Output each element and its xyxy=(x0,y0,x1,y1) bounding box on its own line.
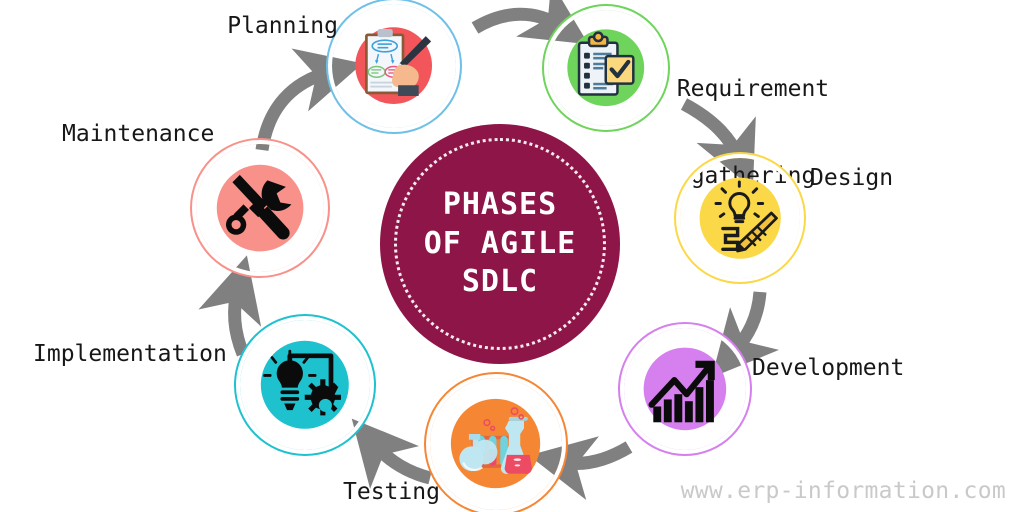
arrow-implementation-to-maintenance xyxy=(235,288,243,354)
arrow-planning-to-requirement xyxy=(475,14,560,28)
phase-label-testing: Testing xyxy=(343,478,440,506)
lightbulb-pencil-icon xyxy=(697,175,783,261)
phase-node-planning[interactable] xyxy=(332,4,456,128)
hub-title: PHASES OF AGILE SDLC xyxy=(424,186,577,301)
center-hub: PHASES OF AGILE SDLC xyxy=(380,124,620,364)
hub-title-line-2: OF AGILE xyxy=(424,225,577,263)
arrow-development-to-testing xyxy=(562,447,629,463)
phase-label-design: Design xyxy=(810,164,893,192)
phase-node-testing[interactable] xyxy=(430,378,562,510)
phase-node-development[interactable] xyxy=(624,328,746,450)
phase-node-maintenance[interactable] xyxy=(196,144,324,272)
arrow-testing-to-implementation xyxy=(374,444,430,478)
phase-label-planning: Planning xyxy=(218,12,338,40)
growth-chart-icon xyxy=(641,345,729,433)
site-watermark: www.erp-information.com xyxy=(681,478,1006,504)
phase-label-requirement-line-1: Requirement xyxy=(668,75,838,104)
clipboard-pen-icon xyxy=(349,21,438,110)
arrow-design-to-development xyxy=(734,292,760,352)
wrench-screwdriver-icon xyxy=(214,162,306,254)
diagram-canvas: PHASES OF AGILE SDLC xyxy=(0,0,1024,512)
arrow-maintenance-to-planning xyxy=(262,72,330,150)
hub-title-line-1: PHASES xyxy=(424,186,577,224)
phase-node-design[interactable] xyxy=(680,158,800,278)
lightbulb-gear-icon xyxy=(258,338,352,432)
test-tube-flask-icon xyxy=(448,396,543,491)
phase-node-requirement-gathering[interactable] xyxy=(548,10,664,126)
phase-label-implementation: Implementation xyxy=(33,340,227,368)
phase-label-development: Development xyxy=(752,354,904,382)
phase-label-maintenance: Maintenance xyxy=(62,120,214,148)
phase-node-implementation[interactable] xyxy=(240,320,370,450)
hub-title-line-3: SDLC xyxy=(424,263,577,301)
checklist-clipboard-icon xyxy=(564,26,648,110)
